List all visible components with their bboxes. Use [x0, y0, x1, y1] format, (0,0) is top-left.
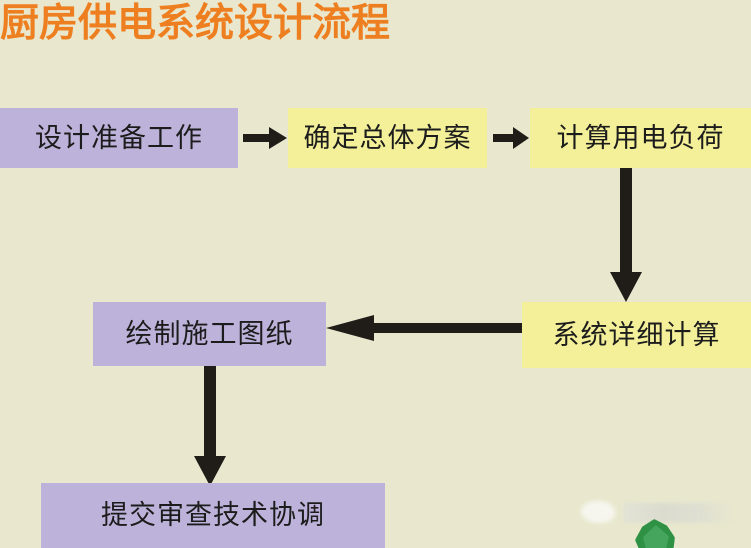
flow-node-design-preparation[interactable]: 设计准备工作 — [0, 108, 238, 168]
watermark-text-blur — [623, 503, 733, 523]
page-title: 厨房供电系统设计流程 — [0, 1, 390, 47]
watermark — [575, 495, 751, 548]
flow-node-construction-drawings[interactable]: 绘制施工图纸 — [93, 302, 326, 366]
flow-node-detailed-calculation[interactable]: 系统详细计算 — [522, 302, 751, 368]
arrow-down-n3-n4 — [608, 168, 644, 302]
flow-node-label: 确定总体方案 — [304, 125, 472, 152]
flow-node-label: 计算用电负荷 — [557, 125, 725, 152]
flow-node-label: 设计准备工作 — [35, 125, 203, 152]
arrow-down-n5-n6 — [192, 366, 228, 486]
watermark-leaf-icon — [635, 519, 675, 548]
arrow-right-n2-n3 — [493, 127, 529, 149]
flow-node-label: 提交审查技术协调 — [101, 502, 325, 529]
arrow-left-n4-n5 — [326, 315, 522, 341]
flow-node-submit-review[interactable]: 提交审查技术协调 — [41, 483, 385, 548]
flow-node-label: 绘制施工图纸 — [126, 321, 294, 348]
arrow-right-n1-n2 — [243, 127, 287, 149]
watermark-cloud-icon — [581, 501, 615, 523]
flowchart-canvas: 厨房供电系统设计流程 设计准备工作 确定总体方案 计算用电负荷 系统详细计算 绘… — [0, 0, 751, 548]
flow-node-overall-plan[interactable]: 确定总体方案 — [288, 108, 487, 168]
flow-node-label: 系统详细计算 — [553, 322, 721, 349]
flow-node-calculate-load[interactable]: 计算用电负荷 — [530, 108, 751, 168]
watermark-leaf-highlight-icon — [643, 525, 669, 548]
